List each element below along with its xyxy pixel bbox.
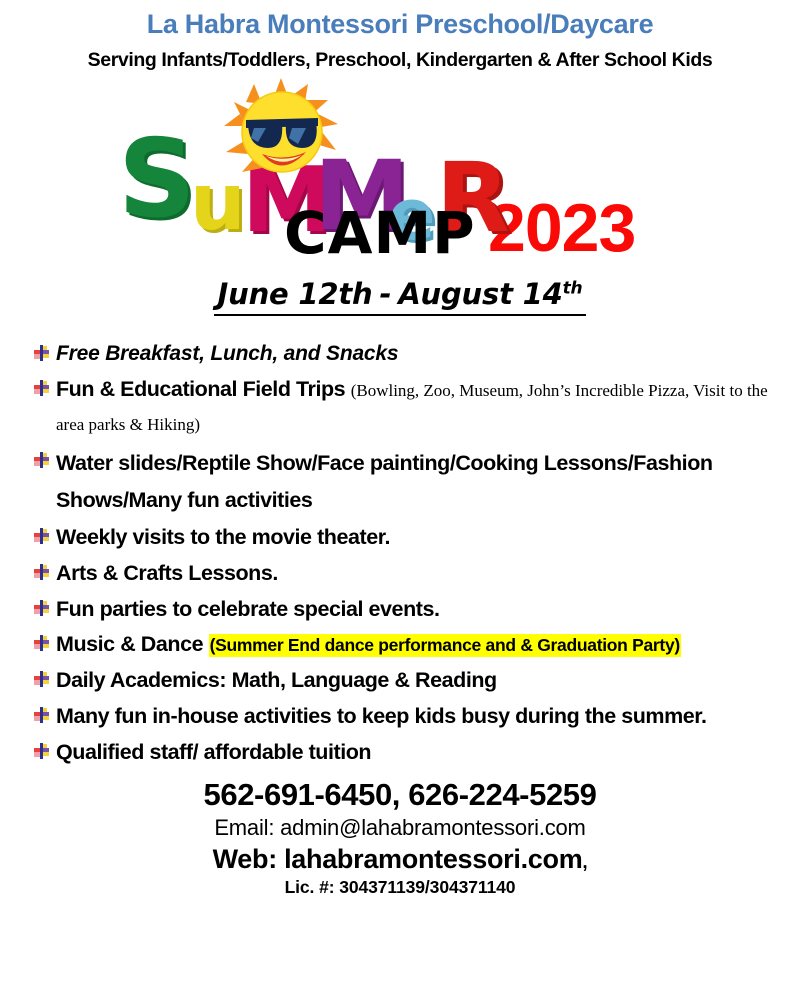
sun-with-sunglasses-icon — [218, 76, 348, 194]
page-subtitle: Serving Infants/Toddlers, Preschool, Kin… — [0, 49, 800, 72]
summer-camp-flyer: La Habra Montessori Preschool/Daycare Se… — [0, 0, 800, 1004]
camp-start-date: June 12th — [218, 277, 373, 311]
contact-footer: 562-691-6450, 626-224-5259 Email: admin@… — [0, 778, 800, 898]
summer-camp-logo: S u M M e R CAMP 2023 — [0, 76, 800, 276]
list-item: Music & Dance (Summer End dance performa… — [34, 628, 792, 661]
multicolor-cross-bullet-icon — [34, 635, 50, 651]
email-address[interactable]: Email: admin@lahabramontessori.com — [0, 814, 800, 842]
camp-end-date-suffix: th — [563, 278, 583, 298]
list-item-label: Music & Dance (Summer End dance performa… — [56, 628, 681, 661]
list-item-label: Water slides/Reptile Show/Face painting/… — [56, 445, 792, 519]
list-item-label: Free Breakfast, Lunch, and Snacks — [56, 338, 398, 370]
multicolor-cross-bullet-icon — [34, 743, 50, 759]
multicolor-cross-bullet-icon — [34, 452, 50, 468]
list-item: Daily Academics: Math, Language & Readin… — [34, 664, 792, 697]
multicolor-cross-bullet-icon — [34, 345, 50, 361]
highlighted-note: (Summer End dance performance and & Grad… — [209, 634, 681, 657]
list-item-label: Weekly visits to the movie theater. — [56, 521, 390, 554]
list-item: Free Breakfast, Lunch, and Snacks — [34, 338, 792, 370]
camp-wordmark: CAMP — [284, 204, 476, 262]
list-item: Arts & Crafts Lessons. — [34, 557, 792, 590]
list-item: Weekly visits to the movie theater. — [34, 521, 792, 554]
page-title: La Habra Montessori Preschool/Daycare — [0, 0, 800, 40]
phone-numbers[interactable]: 562-691-6450, 626-224-5259 — [0, 778, 800, 813]
license-numbers: Lic. #: 304371139/304371140 — [0, 877, 800, 899]
list-item-main: Music & Dance — [56, 632, 209, 656]
multicolor-cross-bullet-icon — [34, 600, 50, 616]
list-item: Fun parties to celebrate special events. — [34, 593, 792, 626]
multicolor-cross-bullet-icon — [34, 380, 50, 396]
website-comma: , — [582, 852, 587, 873]
multicolor-cross-bullet-icon — [34, 528, 50, 544]
list-item-label: Qualified staff/ affordable tuition — [56, 736, 371, 769]
list-item-label: Many fun in-house activities to keep kid… — [56, 700, 707, 733]
list-item: Many fun in-house activities to keep kid… — [34, 700, 792, 733]
list-item-label: Arts & Crafts Lessons. — [56, 557, 278, 590]
list-item-label: Daily Academics: Math, Language & Readin… — [56, 664, 497, 697]
camp-end-date: August 14 — [398, 277, 562, 311]
list-item-main: Fun & Educational Field Trips — [56, 377, 351, 401]
website-line[interactable]: Web: lahabramontessori.com, — [0, 843, 800, 875]
features-list: Free Breakfast, Lunch, and Snacks Fun & … — [0, 338, 800, 768]
multicolor-cross-bullet-icon — [34, 564, 50, 580]
year-label: 2023 — [488, 194, 635, 262]
camp-dates: June 12th-August 14th — [0, 278, 800, 316]
logo-letter-s: S — [118, 126, 196, 234]
website-url[interactable]: Web: lahabramontessori.com — [213, 844, 583, 874]
list-item-label: Fun parties to celebrate special events. — [56, 593, 440, 626]
date-dash: - — [372, 277, 398, 311]
list-item: Fun & Educational Field Trips (Bowling, … — [34, 373, 792, 442]
list-item-label: Fun & Educational Field Trips (Bowling, … — [56, 373, 792, 442]
camp-dates-text: June 12th-August 14th — [214, 278, 587, 316]
multicolor-cross-bullet-icon — [34, 707, 50, 723]
list-item: Qualified staff/ affordable tuition — [34, 736, 792, 769]
list-item: Water slides/Reptile Show/Face painting/… — [34, 445, 792, 519]
multicolor-cross-bullet-icon — [34, 671, 50, 687]
